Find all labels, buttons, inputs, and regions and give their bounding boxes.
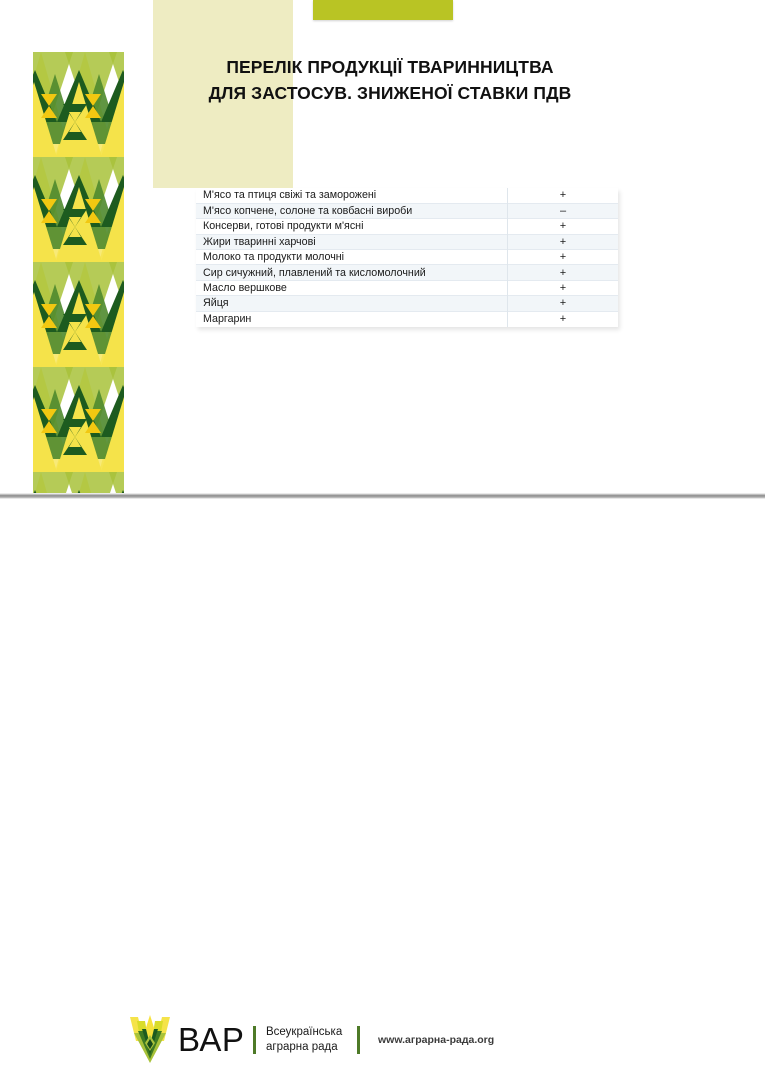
table-body: М'ясо та птиця свіжі та заморожені+М'ясо… [196,188,618,327]
footer-divider-line-2 [357,1026,360,1054]
product-name-cell: Сир сичужний, плавлений та кисломолочний [196,265,508,280]
deco-triangle [41,199,57,211]
table-row: Сир сичужний, плавлений та кисломолочний… [196,265,618,280]
deco-triangle [41,106,57,118]
deco-triangle [69,332,81,342]
deco-triangle [101,397,124,472]
deco-triangle [69,112,81,122]
deco-triangle [41,304,57,316]
table-row: М'ясо та птиця свіжі та заморожені+ [196,188,618,203]
product-name-cell: Яйця [196,296,508,311]
brand-full-name: Всеукраїнська аграрна рада [266,1025,342,1055]
page-title-line-1: ПЕРЕЛІК ПРОДУКЦІЇ ТВАРИННИЦТВА [140,54,640,80]
table-row: Молоко та продукти молочні+ [196,250,618,265]
vat-mark-cell: + [508,188,619,203]
deco-triangle [69,437,81,447]
product-name-cell: М'ясо копчене, солоне та ковбасні вироби [196,203,508,218]
deco-triangle [69,227,81,237]
deco-triangle [85,421,101,433]
footer-divider-line-1 [253,1026,256,1054]
table-row: Консерви, готові продукти м'ясні+ [196,219,618,234]
deco-pattern-unit [33,472,124,493]
decorative-wheat-strip [33,52,124,493]
footer-divider [0,493,765,499]
deco-triangle [85,316,101,328]
product-name-cell: М'ясо та птиця свіжі та заморожені [196,188,508,203]
deco-triangle [85,94,101,106]
brand-name-line-2: аграрна рада [266,1040,342,1055]
product-name-cell: Жири тваринні харчові [196,234,508,249]
vat-mark-cell: + [508,219,619,234]
vat-mark-cell: + [508,234,619,249]
vat-mark-cell: + [508,250,619,265]
product-name-cell: Молоко та продукти молочні [196,250,508,265]
deco-triangle [69,122,81,132]
deco-triangle [101,292,124,367]
vat-mark-cell: + [508,265,619,280]
deco-triangle [41,211,57,223]
footer-bar: ВАР Всеукраїнська аграрна рада www.аграр… [0,505,765,574]
vat-mark-cell: + [508,311,619,326]
product-name-cell: Маргарин [196,311,508,326]
deco-triangle [69,217,81,227]
table-row: Маргарин+ [196,311,618,326]
product-vat-table: М'ясо та птиця свіжі та заморожені+М'ясо… [196,188,618,327]
deco-triangle [85,409,101,421]
deco-triangle [41,409,57,421]
deco-triangle [41,316,57,328]
vat-mark-cell: + [508,296,619,311]
deco-triangle [85,106,101,118]
table-row: Масло вершкове+ [196,280,618,295]
deco-pattern-unit [33,367,124,472]
table-row: М'ясо копчене, солоне та ковбасні вироби… [196,203,618,218]
deco-triangle [41,421,57,433]
vat-mark-cell: – [508,203,619,218]
page-title-line-2: ДЛЯ ЗАСТОСУВ. ЗНИЖЕНОЇ СТАВКИ ПДВ [140,80,640,106]
brand-abbreviation: ВАР [178,1021,244,1059]
page-title: ПЕРЕЛІК ПРОДУКЦІЇ ТВАРИННИЦТВА ДЛЯ ЗАСТО… [140,54,640,106]
deco-pattern-unit [33,52,124,157]
deco-triangle [69,427,81,437]
vat-mark-cell: + [508,280,619,295]
deco-pattern-unit [33,157,124,262]
deco-triangle [69,322,81,332]
deco-triangle [85,211,101,223]
table-row: Яйця+ [196,296,618,311]
brand-website-url: www.аграрна-рада.org [378,1034,494,1046]
top-accent-bar [313,0,453,20]
brand-name-line-1: Всеукраїнська [266,1025,342,1040]
var-trident-logo-icon [128,1015,172,1065]
deco-triangle [85,304,101,316]
product-name-cell: Консерви, готові продукти м'ясні [196,219,508,234]
table-row: Жири тваринні харчові+ [196,234,618,249]
deco-triangle [41,94,57,106]
deco-triangle [101,187,124,262]
deco-triangle [85,199,101,211]
product-name-cell: Масло вершкове [196,280,508,295]
deco-pattern-unit [33,262,124,367]
deco-triangle [101,82,124,157]
